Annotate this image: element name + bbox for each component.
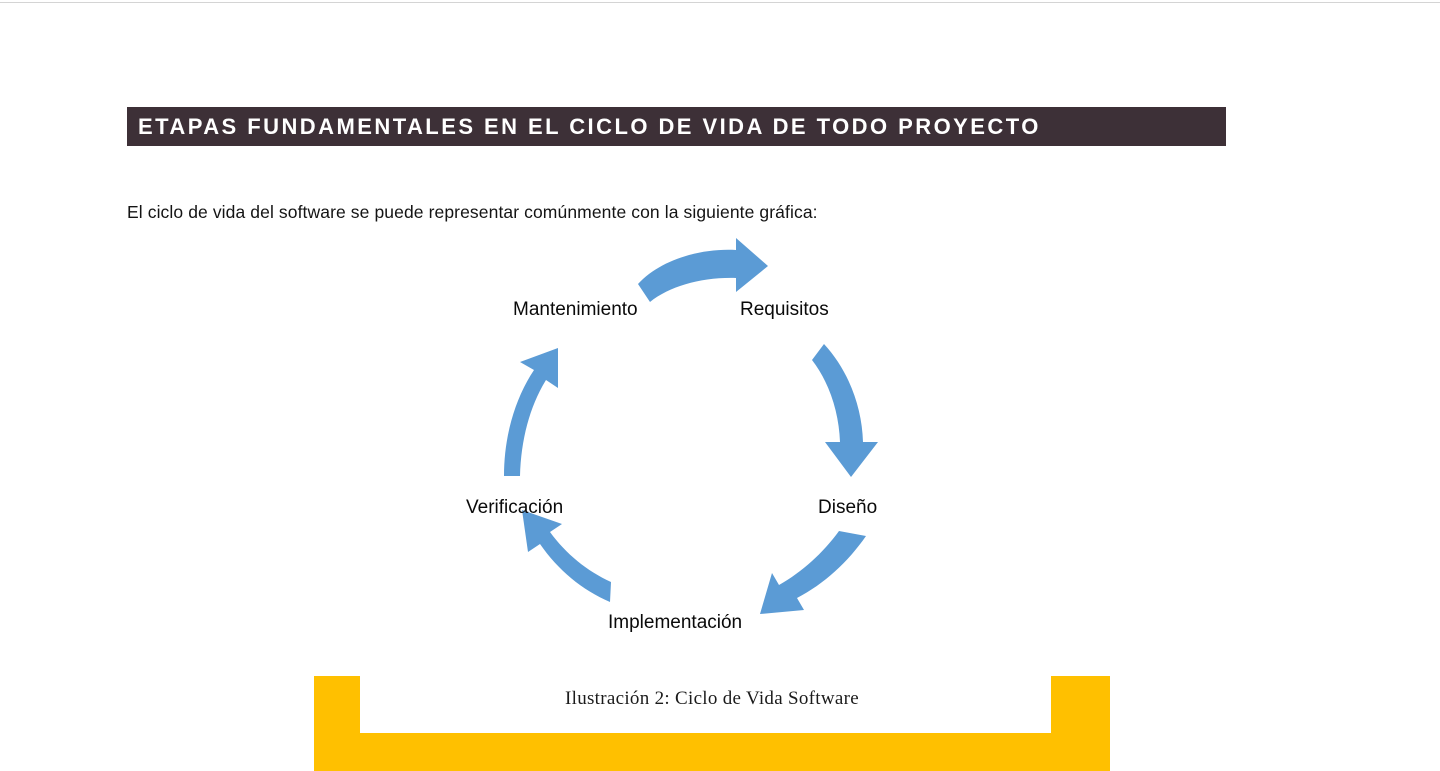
arrow-diseno-implementacion-shape	[760, 531, 866, 614]
arrow-implementacion-verificacion-shape	[522, 510, 611, 602]
arrow-mantenimiento-requisitos-shape	[638, 238, 768, 302]
diagram-node-implementacion: Implementación	[608, 613, 742, 632]
top-divider-rule	[0, 2, 1440, 3]
diagram-node-requisitos: Requisitos	[740, 300, 829, 319]
diagram-node-verificacion: Verificación	[466, 498, 563, 517]
document-page: ETAPAS FUNDAMENTALES EN EL CICLO DE VIDA…	[0, 0, 1440, 771]
figure-caption: Ilustración 2: Ciclo de Vida Software	[314, 688, 1110, 710]
diagram-arrows-canvas	[300, 236, 1140, 656]
arrow-requisitos-diseno-shape	[812, 344, 878, 477]
section-heading-text: ETAPAS FUNDAMENTALES EN EL CICLO DE VIDA…	[138, 116, 1041, 138]
diagram-node-mantenimiento: Mantenimiento	[513, 300, 638, 319]
intro-paragraph: El ciclo de vida del software se puede r…	[127, 202, 1247, 223]
diagram-node-diseno: Diseño	[818, 498, 877, 517]
section-heading-band: ETAPAS FUNDAMENTALES EN EL CICLO DE VIDA…	[127, 107, 1226, 146]
arrow-verificacion-mantenimiento-shape	[504, 348, 558, 476]
